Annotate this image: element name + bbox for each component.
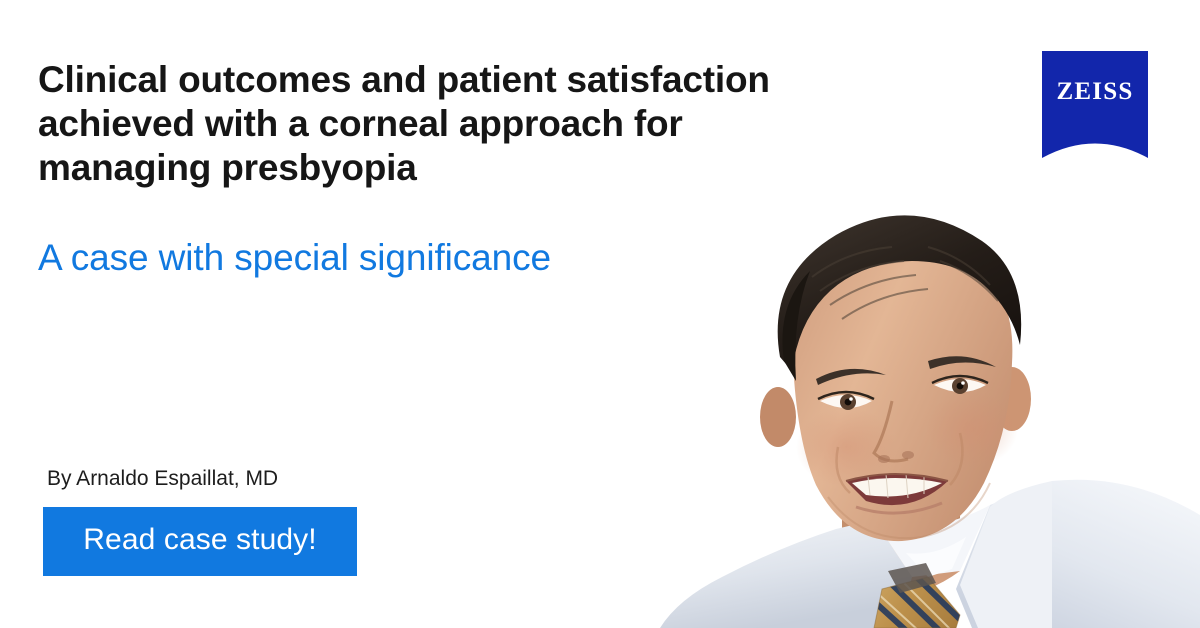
author-byline: By Arnaldo Espaillat, MD [47, 466, 278, 492]
portrait-smileline-left [837, 447, 851, 493]
portrait-coat-right [956, 480, 1200, 628]
portrait-cheek-right [926, 391, 1018, 467]
portrait-illustration [660, 185, 1200, 628]
zeiss-logo-mark: ZEISS [1042, 51, 1148, 158]
portrait-shirt [874, 505, 990, 577]
portrait-eye-right [932, 376, 988, 394]
portrait-neck [842, 485, 960, 595]
page-subtitle: A case with special significance [38, 236, 551, 280]
zeiss-logo[interactable]: ZEISS [1042, 51, 1148, 158]
portrait-eyebrow-left [816, 369, 886, 385]
promo-banner: ZEISS Clinical outcomes and patient sati… [0, 0, 1200, 628]
headline-line-1: Clinical outcomes and patient satisfacti… [38, 58, 988, 102]
headline-line-2: achieved with a corneal approach for [38, 102, 988, 146]
author-portrait-photo [660, 185, 1200, 628]
portrait-hair-texture [812, 247, 998, 319]
portrait-mouth [846, 474, 948, 513]
portrait-jawline [828, 483, 990, 538]
portrait-hair-sideburn [782, 271, 810, 381]
portrait-tie-outline [874, 577, 960, 628]
portrait-tie-knot [888, 563, 936, 593]
portrait-cheek-left [796, 407, 896, 487]
portrait-coat-left [810, 520, 912, 628]
portrait-eye-left [818, 392, 874, 410]
read-case-study-button[interactable]: Read case study! [43, 507, 357, 576]
portrait-ear-left [760, 387, 796, 447]
portrait-eyebrow-right [928, 356, 996, 369]
portrait-ear-right [993, 367, 1031, 431]
portrait-shirt-collar [906, 537, 966, 577]
portrait-hair [778, 215, 1022, 371]
portrait-face [792, 241, 1013, 541]
portrait-nose [874, 401, 908, 461]
zeiss-wordmark: ZEISS [1057, 78, 1134, 105]
portrait-nostril-right [902, 451, 914, 459]
portrait-nostril-left [878, 455, 890, 463]
portrait-smileline-right [950, 433, 962, 485]
portrait-tie [856, 561, 980, 628]
headline-line-3: managing presbyopia [38, 146, 988, 190]
portrait-coat-left-body [660, 520, 912, 628]
portrait-coat-right-lapel [960, 481, 1052, 628]
page-title: Clinical outcomes and patient satisfacti… [38, 58, 988, 190]
